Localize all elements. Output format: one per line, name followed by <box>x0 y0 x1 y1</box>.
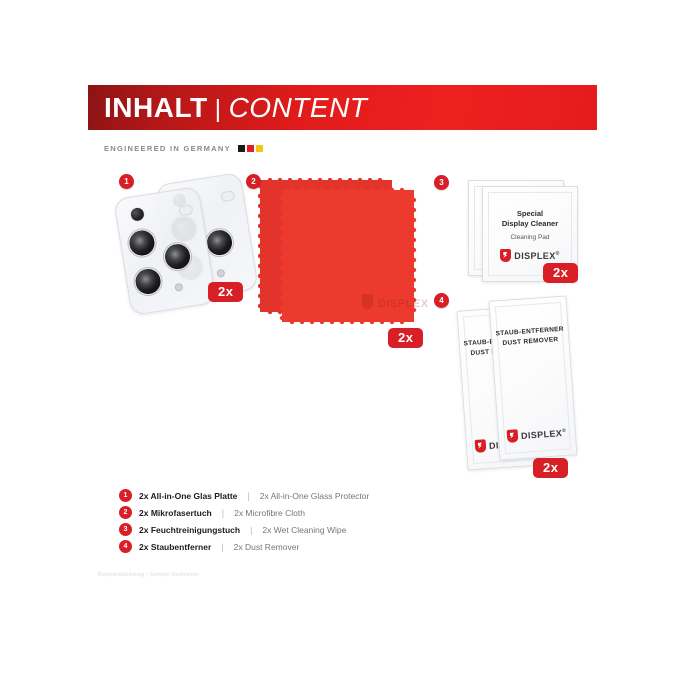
page-title-separator: | <box>215 97 222 122</box>
callout-badge-2: 2 <box>246 174 261 189</box>
brand-mark: ® <box>556 251 560 257</box>
legend-item-4: 4 2x Staubentferner | 2x Dust Remover <box>119 538 369 555</box>
legend-label-de-1: 2x All-in-One Glas Platte <box>139 491 237 501</box>
shield-icon <box>507 429 519 443</box>
cleaning-pad-line1: Special <box>517 209 543 218</box>
content-sheet: INHALT | CONTENT ENGINEERED IN GERMANY 1 <box>0 0 685 685</box>
legend-item-3: 3 2x Feuchtreinigungstuch | 2x Wet Clean… <box>119 521 369 538</box>
legend-label-de-2: 2x Mikrofasertuch <box>139 508 212 518</box>
cleaning-pad-line2: Display Cleaner <box>502 219 558 228</box>
legend-item-1: 1 2x All-in-One Glas Platte | 2x All-in-… <box>119 487 369 504</box>
cleaning-pad-line3: Cleaning Pad <box>483 234 577 241</box>
german-flag-icon <box>238 145 263 152</box>
legend-badge-4: 4 <box>119 540 132 553</box>
legend-item-2: 2 2x Mikrofasertuch | 2x Microfibre Clot… <box>119 504 369 521</box>
callout-badge-1: 1 <box>119 174 134 189</box>
shield-icon <box>475 439 487 453</box>
page-title: INHALT | CONTENT <box>88 94 367 122</box>
legend-label-en-3: 2x Wet Cleaning Wipe <box>262 525 346 535</box>
cleaning-pad-text: Special Display Cleaner Cleaning Pad <box>483 209 577 241</box>
legend-label-de-3: 2x Feuchtreinigungstuch <box>139 525 240 535</box>
footer-disclaimer: Beispielabbildung | Sample Illustration <box>98 572 199 578</box>
brand-name: DISPLEX <box>514 251 555 261</box>
dust-remover-front: STAUB-ENTFERNER DUST REMOVER DISPLEX® <box>489 295 578 460</box>
quantity-pill-pad: 2x <box>543 263 578 283</box>
displex-logo: DISPLEX® <box>483 249 577 262</box>
brand-name: DISPLEX <box>521 428 563 441</box>
legend-label-en-1: 2x All-in-One Glass Protector <box>260 491 370 501</box>
cloth-shapes: DISPLEX <box>258 178 433 343</box>
engineered-in-germany: ENGINEERED IN GERMANY <box>104 144 263 153</box>
quantity-pill-glass: 2x <box>208 282 243 302</box>
legend-badge-2: 2 <box>119 506 132 519</box>
callout-badge-4: 4 <box>434 293 449 308</box>
legend-separator-4: | <box>221 542 223 552</box>
svg-text:DISPLEX: DISPLEX <box>378 298 429 310</box>
legend-label-en-4: 2x Dust Remover <box>234 542 300 552</box>
legend-label-de-4: 2x Staubentferner <box>139 542 211 552</box>
legend-label-en-2: 2x Microfibre Cloth <box>234 508 305 518</box>
engineered-label: ENGINEERED IN GERMANY <box>104 144 231 153</box>
legend-badge-3: 3 <box>119 523 132 536</box>
legend-separator-3: | <box>250 525 252 535</box>
quantity-pill-cloth: 2x <box>388 328 423 348</box>
legend-separator-2: | <box>222 508 224 518</box>
page-title-en: CONTENT <box>229 94 368 122</box>
glass-plate-front <box>113 186 216 316</box>
product-dust-remover: STAUB-ENTFERNER DUST REMOVER DISPLEX® ST… <box>460 296 590 481</box>
shield-icon <box>500 249 511 262</box>
cloth-brand-watermark: DISPLEX <box>362 294 429 310</box>
quantity-pill-dust: 2x <box>533 458 568 478</box>
brand-mark: ® <box>562 427 567 433</box>
product-microfibre-cloth: DISPLEX <box>258 178 433 343</box>
legend-badge-1: 1 <box>119 489 132 502</box>
dust-remover-line2: DUST REMOVER <box>502 336 558 347</box>
page-title-de: INHALT <box>104 94 208 122</box>
header-banner: INHALT | CONTENT <box>88 85 597 130</box>
callout-badge-3: 3 <box>434 175 449 190</box>
content-legend: 1 2x All-in-One Glas Platte | 2x All-in-… <box>119 487 369 555</box>
legend-separator-1: | <box>247 491 249 501</box>
